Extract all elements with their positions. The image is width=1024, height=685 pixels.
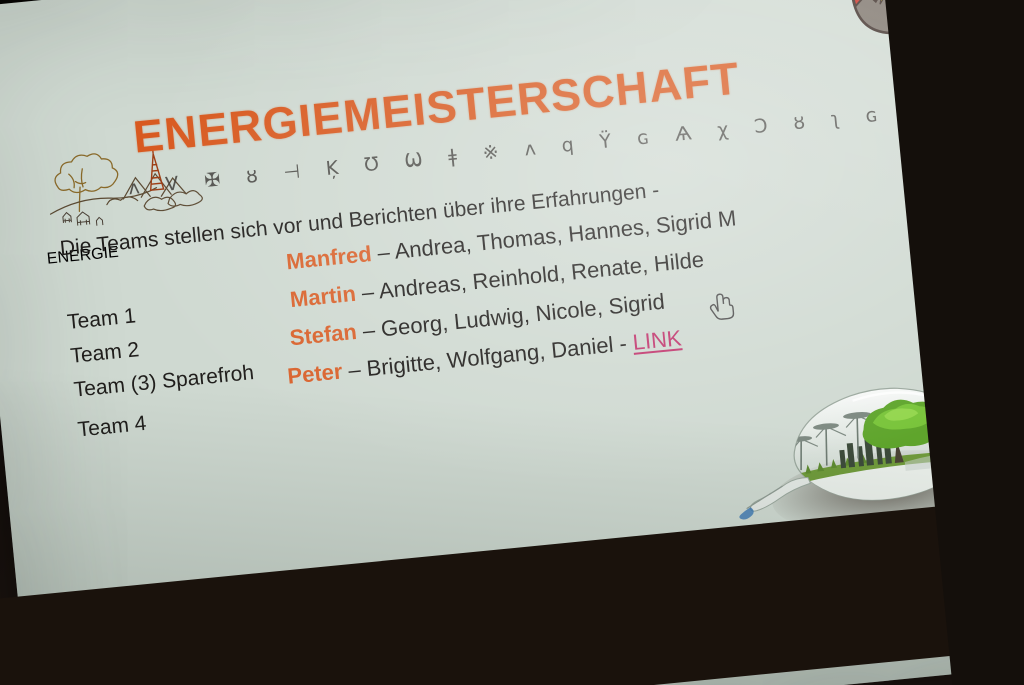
team-leader-3: Stefan	[289, 319, 358, 350]
team-label-3: Team (3) Sparefroh	[73, 361, 255, 403]
team-dash-3: –	[355, 317, 382, 344]
team-dash-4: –	[341, 356, 368, 383]
team-label-2: Team 2	[69, 338, 140, 369]
hand-cursor-svg	[707, 290, 736, 322]
team-leader-4: Peter	[286, 358, 343, 388]
team-dash-2: –	[355, 279, 381, 306]
team-dash-1: –	[370, 239, 396, 266]
team-leader-1: Manfred	[285, 241, 373, 274]
team-leader-2: Martin	[289, 281, 357, 312]
team-label-1: Team 1	[66, 304, 137, 335]
link-hyperlink[interactable]: LINK	[632, 325, 683, 355]
team-label-4: Team 4	[77, 412, 148, 443]
photo-of-projected-slide: ENERGIE ENERGIEMEISTERSCHAFT ʌ V ✠ ȣ ⊣ Ķ…	[0, 0, 1024, 685]
hand-cursor-icon	[707, 290, 736, 322]
